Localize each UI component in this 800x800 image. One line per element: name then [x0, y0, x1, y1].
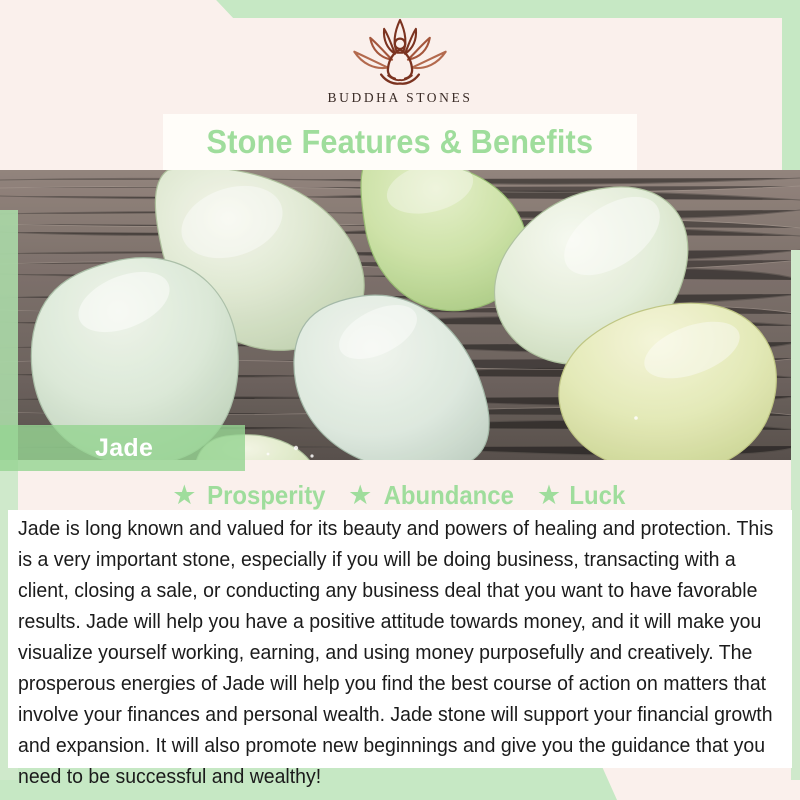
decorative-left-green-strip [0, 210, 18, 460]
benefit-label: Prosperity [208, 480, 326, 511]
benefit-item: ★ Prosperity [172, 480, 331, 511]
stone-name: Jade [0, 434, 153, 463]
decorative-right-green-strip-lower [791, 250, 800, 780]
lotus-meditation-figure-icon [345, 16, 455, 88]
page-title: Stone Features & Benefits [207, 123, 594, 161]
benefit-item: ★ Abundance [348, 480, 520, 511]
benefits-row: ★ Prosperity ★ Abundance ★ Luck [0, 478, 800, 512]
description-text: Jade is long known and valued for its be… [18, 513, 780, 792]
brand-name: BUDDHA STONES [328, 90, 473, 106]
benefit-label: Luck [570, 480, 626, 511]
infographic-page: BUDDHA STONES Stone Features & Benefits [0, 0, 800, 800]
star-icon: ★ [537, 482, 561, 509]
star-icon: ★ [348, 482, 372, 509]
star-icon: ★ [172, 482, 196, 509]
hero-photo [0, 170, 800, 460]
stone-name-band: Jade [0, 425, 245, 471]
title-banner: Stone Features & Benefits [163, 114, 637, 170]
description-card: Jade is long known and valued for its be… [8, 510, 792, 768]
benefit-label: Abundance [384, 480, 514, 511]
benefit-item: ★ Luck [537, 480, 628, 511]
